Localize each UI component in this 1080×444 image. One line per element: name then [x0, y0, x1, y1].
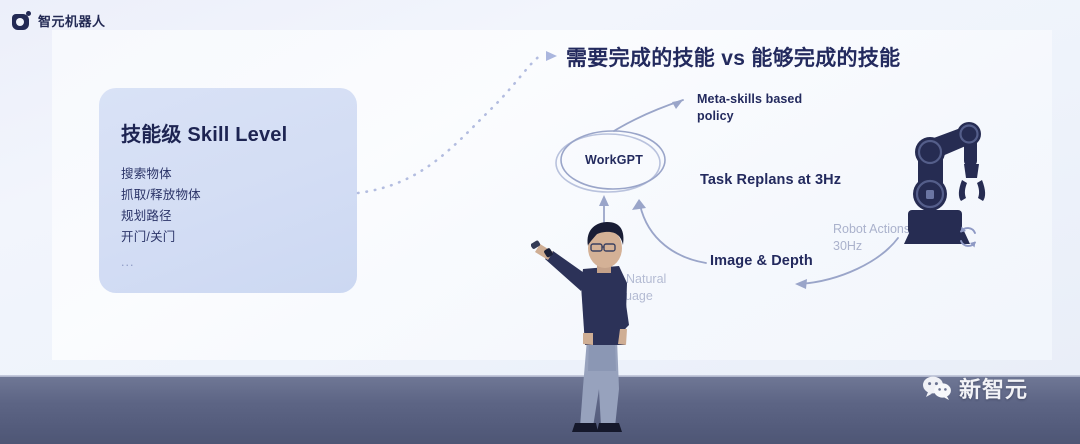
zhiyuan-robot-logo-icon [12, 11, 31, 30]
stage-scene: 技能级 Skill Level 搜索物体 抓取/释放物体 规划路径 开门/关门 … [0, 0, 1080, 444]
label-task-replans: Task Replans at 3Hz [700, 172, 841, 188]
wechat-icon [922, 376, 952, 400]
watermark-text: 新智元 [959, 372, 1028, 404]
label-meta-skills-policy: Meta-skills based policy [697, 91, 827, 125]
watermark: 新智元 [922, 372, 1028, 404]
label-image-depth: Image & Depth [710, 251, 813, 271]
brand-logo: 智元机器人 [12, 11, 106, 30]
refresh-loop-icon [955, 224, 981, 250]
speaker-person [531, 221, 659, 436]
brand-name: 智元机器人 [38, 11, 106, 30]
workgpt-node-label: WorkGPT [570, 153, 658, 167]
